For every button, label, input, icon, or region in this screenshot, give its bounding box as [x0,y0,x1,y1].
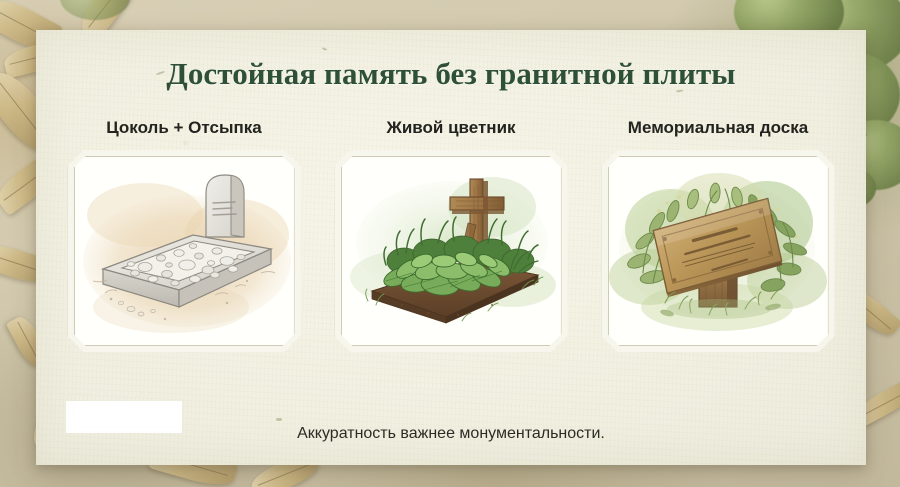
illustration-frame[interactable] [68,150,301,352]
grave-base-drawing [75,157,294,345]
feature-column-flowerbed[interactable]: Живой цветник [327,118,575,352]
illustration-memorial-plaque [609,157,828,345]
footer-caption: Аккуратность важнее монументальности. [36,425,866,443]
slide-card: Достойная память без гранитной плиты Цок… [36,30,866,465]
column-heading: Мемориальная доска [594,118,842,138]
illustration-frame[interactable] [335,150,568,352]
column-heading: Живой цветник [327,118,575,138]
feature-column-plaque[interactable]: Мемориальная доска [594,118,842,352]
flower-bed-drawing [342,157,561,345]
illustration-frame[interactable] [602,150,835,352]
paper-speck [276,418,282,421]
illustration-grave-base [75,157,294,345]
headstone [206,175,244,237]
column-heading: Цоколь + Отсыпка [60,118,308,138]
page-title: Достойная память без гранитной плиты [36,56,866,92]
illustration-flower-bed [342,157,561,345]
moss-clump [60,0,130,20]
paper-speck [322,47,327,51]
feature-columns: Цоколь + Отсыпка [60,118,842,352]
memorial-plaque-drawing [609,157,828,345]
feature-column-plinth[interactable]: Цоколь + Отсыпка [60,118,308,352]
